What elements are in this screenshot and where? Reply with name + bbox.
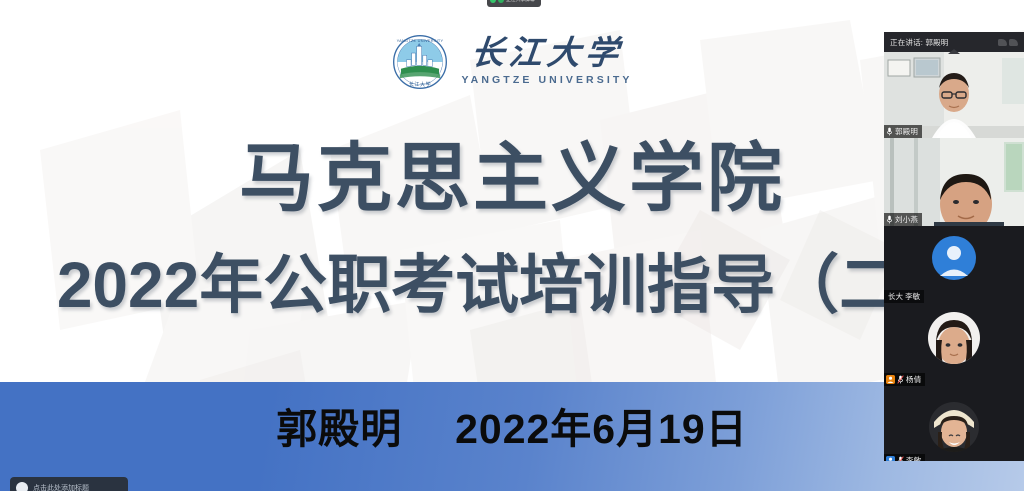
participant-name-badge-4: 李敏: [884, 454, 925, 461]
participant-tile-0[interactable]: 郭殿明: [884, 52, 1024, 138]
participant-corner-label-3: 长大 李敏: [884, 290, 924, 303]
microphone-icon: [886, 215, 893, 224]
sharing-banner-label: 正在共享屏幕: [506, 0, 535, 3]
participant-name-3: 杨倩: [906, 374, 921, 385]
participant-tile-1[interactable]: 刘小燕: [884, 138, 1024, 226]
slide-title-main: 马克思主义学院: [0, 141, 1024, 216]
host-badge-orange-icon: [886, 375, 895, 384]
university-logo-text: 长江大学 YANGTZE UNIVERSITY: [462, 38, 633, 86]
participant-name-1: 刘小燕: [895, 214, 918, 225]
participant-tile-list: 郭殿明: [884, 52, 1024, 461]
participant-tile-3[interactable]: 长大 李敏: [884, 290, 1024, 386]
university-name-cn: 长江大学: [469, 38, 624, 71]
participant-name-badge-1: 刘小燕: [884, 213, 922, 226]
microphone-icon: [886, 127, 893, 136]
sharing-indicator-dot: [490, 0, 496, 3]
participant-avatar-wrap-2: [884, 226, 1024, 290]
presentation-slide: YANGTZE UNIVERSITY 长江大学 长江大学 YANGTZE UNI…: [0, 0, 1024, 491]
participant-photo-avatar-3: [928, 312, 980, 364]
university-name-en: YANGTZE UNIVERSITY: [462, 75, 633, 86]
toolbar-circle-icon: [16, 482, 28, 491]
host-badge-blue-icon: [886, 456, 895, 461]
toolbar-label: 点击此处添加标题: [33, 483, 89, 491]
slide-footer-text: 郭殿明 2022年6月19日: [0, 409, 1024, 450]
video-panel-header: 正在讲话: 郭殿明: [884, 32, 1024, 52]
presentation-date: 2022年6月19日: [455, 406, 748, 452]
participant-avatar-wrap-4: [884, 386, 1024, 461]
video-participants-panel[interactable]: 正在讲话: 郭殿明: [884, 32, 1024, 461]
svg-text:YANGTZE UNIVERSITY: YANGTZE UNIVERSITY: [396, 38, 443, 43]
sharing-indicator-dot-2: [498, 0, 504, 3]
microphone-muted-icon: [897, 375, 904, 384]
participant-avatar-wrap-3: [884, 290, 1024, 386]
slide-title-sub: 2022年公职考试培训指导（二）: [0, 253, 1024, 317]
bottom-toolbar[interactable]: 点击此处添加标题: [10, 477, 128, 491]
participant-tile-4[interactable]: 李敏: [884, 386, 1024, 461]
collapse-panel-icon[interactable]: [998, 39, 1018, 46]
presenter-name: 郭殿明: [276, 406, 402, 452]
microphone-muted-icon: [897, 456, 904, 461]
active-speaker-label: 正在讲话: 郭殿明: [890, 37, 948, 48]
participant-name-4: 李敏: [906, 455, 921, 461]
yangtze-university-emblem-icon: YANGTZE UNIVERSITY 长江大学: [392, 34, 448, 90]
participant-photo-avatar-4: [929, 402, 979, 452]
participant-name-0: 郭殿明: [895, 126, 918, 137]
screen-share-view: YANGTZE UNIVERSITY 长江大学 长江大学 YANGTZE UNI…: [0, 0, 1024, 491]
university-logo: YANGTZE UNIVERSITY 长江大学 长江大学 YANGTZE UNI…: [0, 34, 1024, 90]
participant-name-badge-3: 杨倩: [884, 373, 925, 386]
participant-name-badge-0: 郭殿明: [884, 125, 922, 138]
participant-tile-2[interactable]: [884, 226, 1024, 290]
screen-sharing-banner: 正在共享屏幕: [487, 0, 541, 7]
default-avatar-icon: [932, 236, 976, 280]
